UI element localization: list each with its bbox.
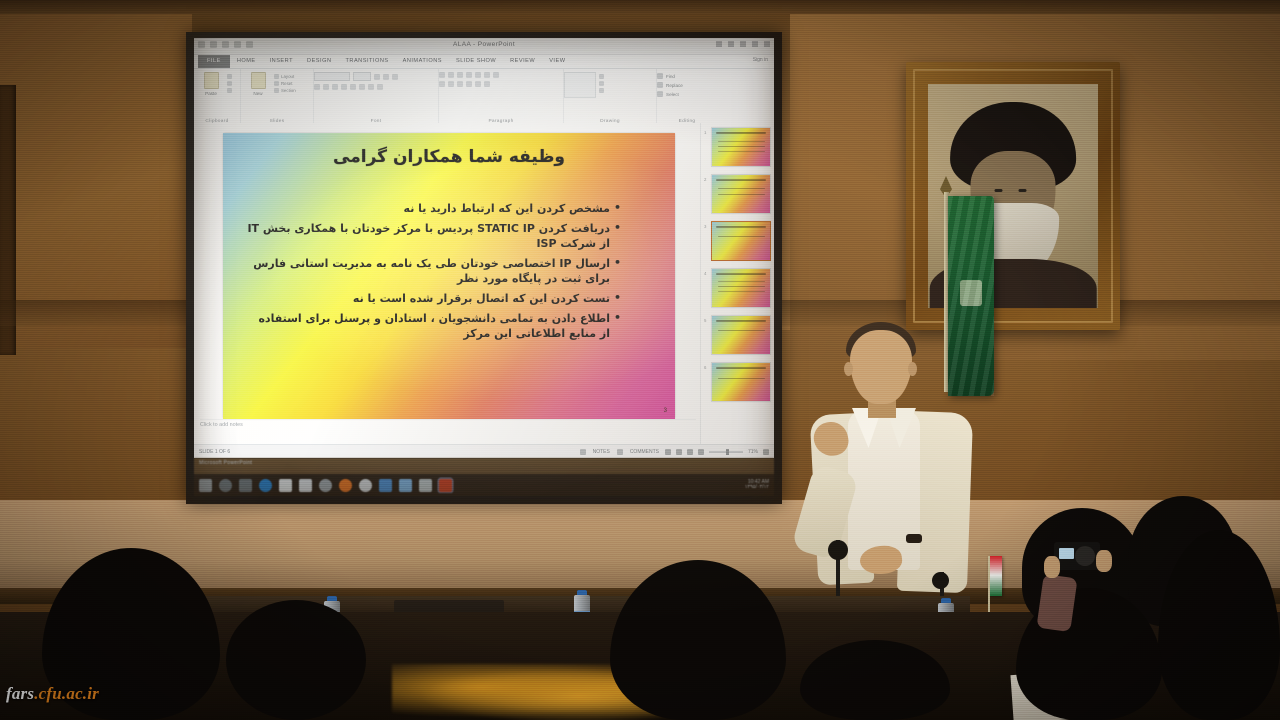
thumb-title-line: [716, 132, 766, 134]
thumb-title-line: [716, 226, 766, 228]
thumb-body-line: [718, 378, 765, 379]
replace-button[interactable]: Replace: [657, 82, 717, 88]
photographer-hand-right: [1096, 550, 1112, 572]
thumb-body-line: [718, 236, 765, 237]
cut-button[interactable]: [227, 74, 232, 79]
thumbnail-number-2: 2: [704, 177, 706, 182]
edge-browser-icon[interactable]: [259, 479, 272, 492]
convert-to-smartart-icon[interactable]: [484, 81, 490, 87]
microphone-head: [828, 540, 848, 560]
slide-bullet-4[interactable]: تست کردن این که اتصال برقرار شده است یا …: [245, 291, 621, 307]
notes-button[interactable]: NOTES: [593, 449, 610, 455]
slide-editing-area[interactable]: وظیفه شما همکاران گرامی مشخص کردن این که…: [200, 127, 698, 425]
tab-animations[interactable]: ANIMATIONS: [396, 55, 449, 68]
cut-icon: [227, 74, 232, 79]
comments-icon[interactable]: [617, 449, 623, 455]
tab-transitions[interactable]: TRANSITIONS: [338, 55, 395, 68]
slide-bullet-list[interactable]: مشخص کردن این که ارتباط دارید یا نه دریا…: [245, 201, 661, 346]
notes-pane[interactable]: Click to add notes: [200, 419, 696, 436]
chrome-icon[interactable]: [359, 479, 372, 492]
firefox-icon[interactable]: [339, 479, 352, 492]
thumbnail-number-1: 1: [704, 130, 706, 135]
window-title: ALAA - PowerPoint: [194, 41, 774, 48]
word-icon[interactable]: [379, 479, 392, 492]
thumbnail-slide-2[interactable]: 2: [711, 174, 771, 214]
thumb-body-line: [718, 146, 765, 147]
decrease-font-size-icon[interactable]: [383, 74, 389, 80]
select-label: Select: [666, 92, 679, 97]
arrange-button[interactable]: [599, 74, 604, 79]
text-direction-icon[interactable]: [484, 72, 490, 78]
desk-flag-cloth: [988, 556, 1002, 596]
presenter: [790, 318, 1020, 618]
windows-taskbar[interactable]: 10:42 AM ۱۳۹۵/۰۳/۱۲: [194, 474, 774, 496]
ribbon-options-icon[interactable]: [728, 41, 734, 47]
format-painter-icon: [227, 88, 232, 93]
current-slide[interactable]: وظیفه شما همکاران گرامی مشخص کردن این که…: [223, 133, 675, 419]
camera-lcd-icon: [1059, 548, 1074, 559]
character-spacing-icon[interactable]: [359, 84, 365, 90]
tab-design[interactable]: DESIGN: [300, 55, 338, 68]
paragraph-row-top[interactable]: [439, 72, 563, 78]
ribbon-group-drawing[interactable]: Drawing: [564, 69, 657, 125]
thumb-body-line: [718, 330, 765, 331]
arrange-icon: [599, 74, 604, 79]
align-right-icon[interactable]: [457, 81, 463, 87]
close-icon[interactable]: [764, 41, 770, 47]
section-label: Section: [281, 88, 296, 93]
section-button[interactable]: Section: [274, 88, 296, 93]
tab-file[interactable]: FILE: [198, 55, 230, 68]
ribbon-tabbar[interactable]: FILE HOME INSERT DESIGN TRANSITIONS ANIM…: [194, 55, 774, 69]
ribbon-group-slides[interactable]: New Layout Reset Section Slides: [241, 69, 314, 125]
slide-bullet-3[interactable]: ارسال IP اختصاصی خودتان طی یک نامه به مد…: [245, 256, 621, 287]
camera-lens-icon: [1075, 546, 1095, 566]
slide-sorter-icon[interactable]: [676, 449, 682, 455]
photographer-hand-left: [1044, 556, 1060, 578]
portrait-brow-left: [994, 189, 1003, 192]
status-center-group[interactable]: NOTES COMMENTS: [580, 449, 665, 455]
zoom-slider-handle[interactable]: [726, 449, 729, 455]
minimize-icon[interactable]: [740, 41, 746, 47]
line-spacing-icon[interactable]: [475, 72, 481, 78]
ribbon-group-clipboard[interactable]: Paste Clipboard: [194, 69, 241, 125]
find-button[interactable]: Find: [657, 73, 717, 79]
store-icon[interactable]: [299, 479, 312, 492]
desktop-window-title: Microsoft PowerPoint: [199, 460, 252, 466]
thumb-body-line: [718, 151, 765, 152]
taskbar-clock[interactable]: 10:42 AM ۱۳۹۵/۰۳/۱۲: [745, 480, 774, 491]
presenter-wristwatch: [906, 534, 922, 543]
justify-icon[interactable]: [466, 81, 472, 87]
replace-icon: [657, 82, 663, 88]
tab-slide-show[interactable]: SLIDE SHOW: [449, 55, 503, 68]
thumbnail-slide-6[interactable]: 6: [711, 362, 771, 402]
thumbnail-slide-5[interactable]: 5: [711, 315, 771, 355]
reset-icon: [274, 81, 279, 86]
projection-screen: ALAA - PowerPoint FILE HOME INSERT DESIG…: [186, 32, 782, 504]
paste-label: Paste: [205, 91, 217, 96]
tab-home[interactable]: HOME: [230, 55, 263, 68]
bullets-icon[interactable]: [439, 72, 445, 78]
thumb-title-line: [716, 273, 766, 275]
view-controls[interactable]: 71%: [665, 449, 774, 455]
tab-review[interactable]: REVIEW: [503, 55, 542, 68]
find-label: Find: [666, 74, 675, 79]
align-left-icon[interactable]: [439, 81, 445, 87]
clear-formatting-icon[interactable]: [392, 74, 398, 80]
replace-label: Replace: [666, 83, 683, 88]
thumbnail-number-4: 4: [704, 271, 706, 276]
new-slide-icon: [251, 72, 266, 89]
thumb-body-line: [718, 281, 765, 282]
quick-styles-button[interactable]: [599, 81, 604, 86]
layout-button[interactable]: Layout: [274, 74, 296, 79]
zoom-slider[interactable]: [709, 451, 743, 453]
thumb-title-line: [716, 367, 766, 369]
powerpoint-icon[interactable]: [439, 479, 452, 492]
slide-bullet-5[interactable]: اطلاع دادن به تمامی دانشجویان ، استادان …: [245, 311, 621, 342]
sign-in-link[interactable]: Sign in: [753, 57, 768, 63]
copy-icon: [227, 81, 232, 86]
window-controls[interactable]: [716, 41, 770, 47]
italic-icon[interactable]: [323, 84, 329, 90]
numbering-icon[interactable]: [448, 72, 454, 78]
slideshow-icon[interactable]: [698, 449, 704, 455]
new-slide-label: New: [253, 91, 262, 96]
tab-view[interactable]: VIEW: [542, 55, 572, 68]
text-shadow-icon[interactable]: [341, 84, 347, 90]
site-watermark: fars.cfu.ac.ir: [6, 684, 99, 704]
quick-styles-icon: [599, 81, 604, 86]
thumbnail-slide-3[interactable]: 3: [711, 221, 771, 261]
desk-flag: [988, 556, 1004, 618]
shape-fill-icon: [599, 88, 604, 93]
section-icon: [274, 88, 279, 93]
ribbon-group-paragraph[interactable]: Paragraph: [439, 69, 564, 125]
slides-small-buttons[interactable]: Layout Reset Section: [274, 72, 296, 93]
clipboard-small-buttons[interactable]: [227, 72, 232, 93]
presenter-head: [850, 330, 912, 404]
tab-insert[interactable]: INSERT: [263, 55, 300, 68]
copy-button[interactable]: [227, 81, 232, 86]
font-size-combobox[interactable]: [353, 72, 371, 81]
slide-number: 3: [664, 408, 667, 414]
thumb-body-line: [718, 141, 765, 142]
desk-flag-pole: [988, 556, 990, 618]
media-player-icon[interactable]: [319, 479, 332, 492]
decrease-indent-icon[interactable]: [457, 72, 463, 78]
drawing-small-buttons[interactable]: [599, 72, 604, 93]
screenshot-root: ALAA - PowerPoint FILE HOME INSERT DESIG…: [0, 0, 1280, 720]
mail-icon[interactable]: [279, 479, 292, 492]
strikethrough-icon[interactable]: [350, 84, 356, 90]
reading-view-icon[interactable]: [687, 449, 693, 455]
paste-icon: [204, 72, 219, 89]
normal-view-icon[interactable]: [665, 449, 671, 455]
status-bar[interactable]: SLIDE 1 OF 6 NOTES COMMENTS 71%: [194, 444, 774, 458]
columns-icon[interactable]: [475, 81, 481, 87]
thumbnail-slide-1[interactable]: 1: [711, 127, 771, 167]
bold-icon[interactable]: [314, 84, 320, 90]
explorer-icon[interactable]: [419, 479, 432, 492]
format-painter-button[interactable]: [227, 88, 232, 93]
wall-panel-left: [0, 8, 192, 348]
slide-indicator: SLIDE 1 OF 6: [194, 449, 230, 455]
thumb-body-line: [718, 194, 765, 195]
thumb-title-line: [716, 179, 766, 181]
font-row-top[interactable]: [314, 72, 438, 81]
ribbon[interactable]: Paste Clipboard New: [194, 69, 774, 126]
powerpoint-titlebar[interactable]: ALAA - PowerPoint: [194, 38, 774, 55]
increase-font-size-icon[interactable]: [374, 74, 380, 80]
thumbnail-number-6: 6: [704, 365, 706, 370]
zoom-level[interactable]: 71%: [748, 449, 758, 455]
font-row-bottom[interactable]: [314, 84, 438, 90]
thumb-body-line: [718, 291, 765, 292]
search-icon[interactable]: [219, 479, 232, 492]
new-slide-button[interactable]: New: [246, 72, 270, 96]
reset-label: Reset: [281, 81, 292, 86]
start-button[interactable]: [199, 479, 212, 492]
desktop-strip: Microsoft PowerPoint 10:42 AM ۱۳۹۵/۰۳/۱۲: [194, 458, 774, 496]
select-button[interactable]: Select: [657, 91, 717, 97]
center-icon[interactable]: [448, 81, 454, 87]
increase-indent-icon[interactable]: [466, 72, 472, 78]
slide-bullet-1[interactable]: مشخص کردن این که ارتباط دارید یا نه: [245, 201, 621, 217]
slide-title[interactable]: وظیفه شما همکاران گرامی: [223, 147, 675, 167]
underline-icon[interactable]: [332, 84, 338, 90]
powerpoint-body: وظیفه شما همکاران گرامی مشخص کردن این که…: [194, 123, 774, 458]
thumbnail-number-5: 5: [704, 318, 706, 323]
audience-photographer: [1040, 530, 1130, 620]
thumb-body-line: [718, 286, 765, 287]
slide-bullet-2[interactable]: دریافت کردن STATIC IP پردیس با مرکز خودت…: [245, 221, 621, 252]
thumb-body-line: [718, 188, 765, 189]
comments-button[interactable]: COMMENTS: [630, 449, 659, 455]
wall-top-trim: [0, 0, 1280, 14]
ribbon-group-editing[interactable]: Find Replace Select Editing: [657, 69, 717, 125]
paragraph-row-bottom[interactable]: [439, 81, 563, 87]
shape-fill-button[interactable]: [599, 88, 604, 93]
thumbnail-number-3: 3: [704, 224, 706, 229]
font-family-combobox[interactable]: [314, 72, 350, 81]
shapes-gallery[interactable]: [564, 72, 596, 98]
powerpoint-window[interactable]: ALAA - PowerPoint FILE HOME INSERT DESIG…: [194, 38, 774, 458]
help-icon[interactable]: [716, 41, 722, 47]
flag-emblem-icon: [960, 280, 982, 306]
layout-icon: [274, 74, 279, 79]
paste-button[interactable]: Paste: [199, 72, 223, 96]
thumb-title-line: [716, 320, 766, 322]
task-view-icon[interactable]: [239, 479, 252, 492]
clock-date: ۱۳۹۵/۰۳/۱۲: [745, 485, 769, 491]
notes-icon[interactable]: [580, 449, 586, 455]
presenter-ear-right: [908, 362, 917, 376]
framed-portrait: [906, 62, 1120, 330]
microphone-1: [828, 540, 840, 598]
fit-slide-to-window-icon[interactable]: [763, 449, 769, 455]
slide-thumbnail-panel[interactable]: 1 2 3: [700, 123, 774, 458]
watermark-prefix: fars: [6, 684, 34, 703]
audience-head-2: [226, 600, 366, 720]
thumbnail-slide-4[interactable]: 4: [711, 268, 771, 308]
microphone-head: [932, 572, 949, 589]
watermark-suffix: .cfu.ac.ir: [34, 684, 99, 703]
restore-icon[interactable]: [752, 41, 758, 47]
presenter-ear-left: [844, 362, 853, 376]
portrait-brow-right: [1018, 189, 1027, 192]
change-case-icon[interactable]: [368, 84, 374, 90]
select-icon: [657, 91, 663, 97]
find-icon: [657, 73, 663, 79]
reset-button[interactable]: Reset: [274, 81, 296, 86]
layout-label: Layout: [281, 74, 294, 79]
excel-icon[interactable]: [399, 479, 412, 492]
font-color-icon[interactable]: [377, 84, 383, 90]
ribbon-group-font[interactable]: Font: [314, 69, 439, 125]
camera: [1054, 542, 1100, 570]
align-text-icon[interactable]: [493, 72, 499, 78]
